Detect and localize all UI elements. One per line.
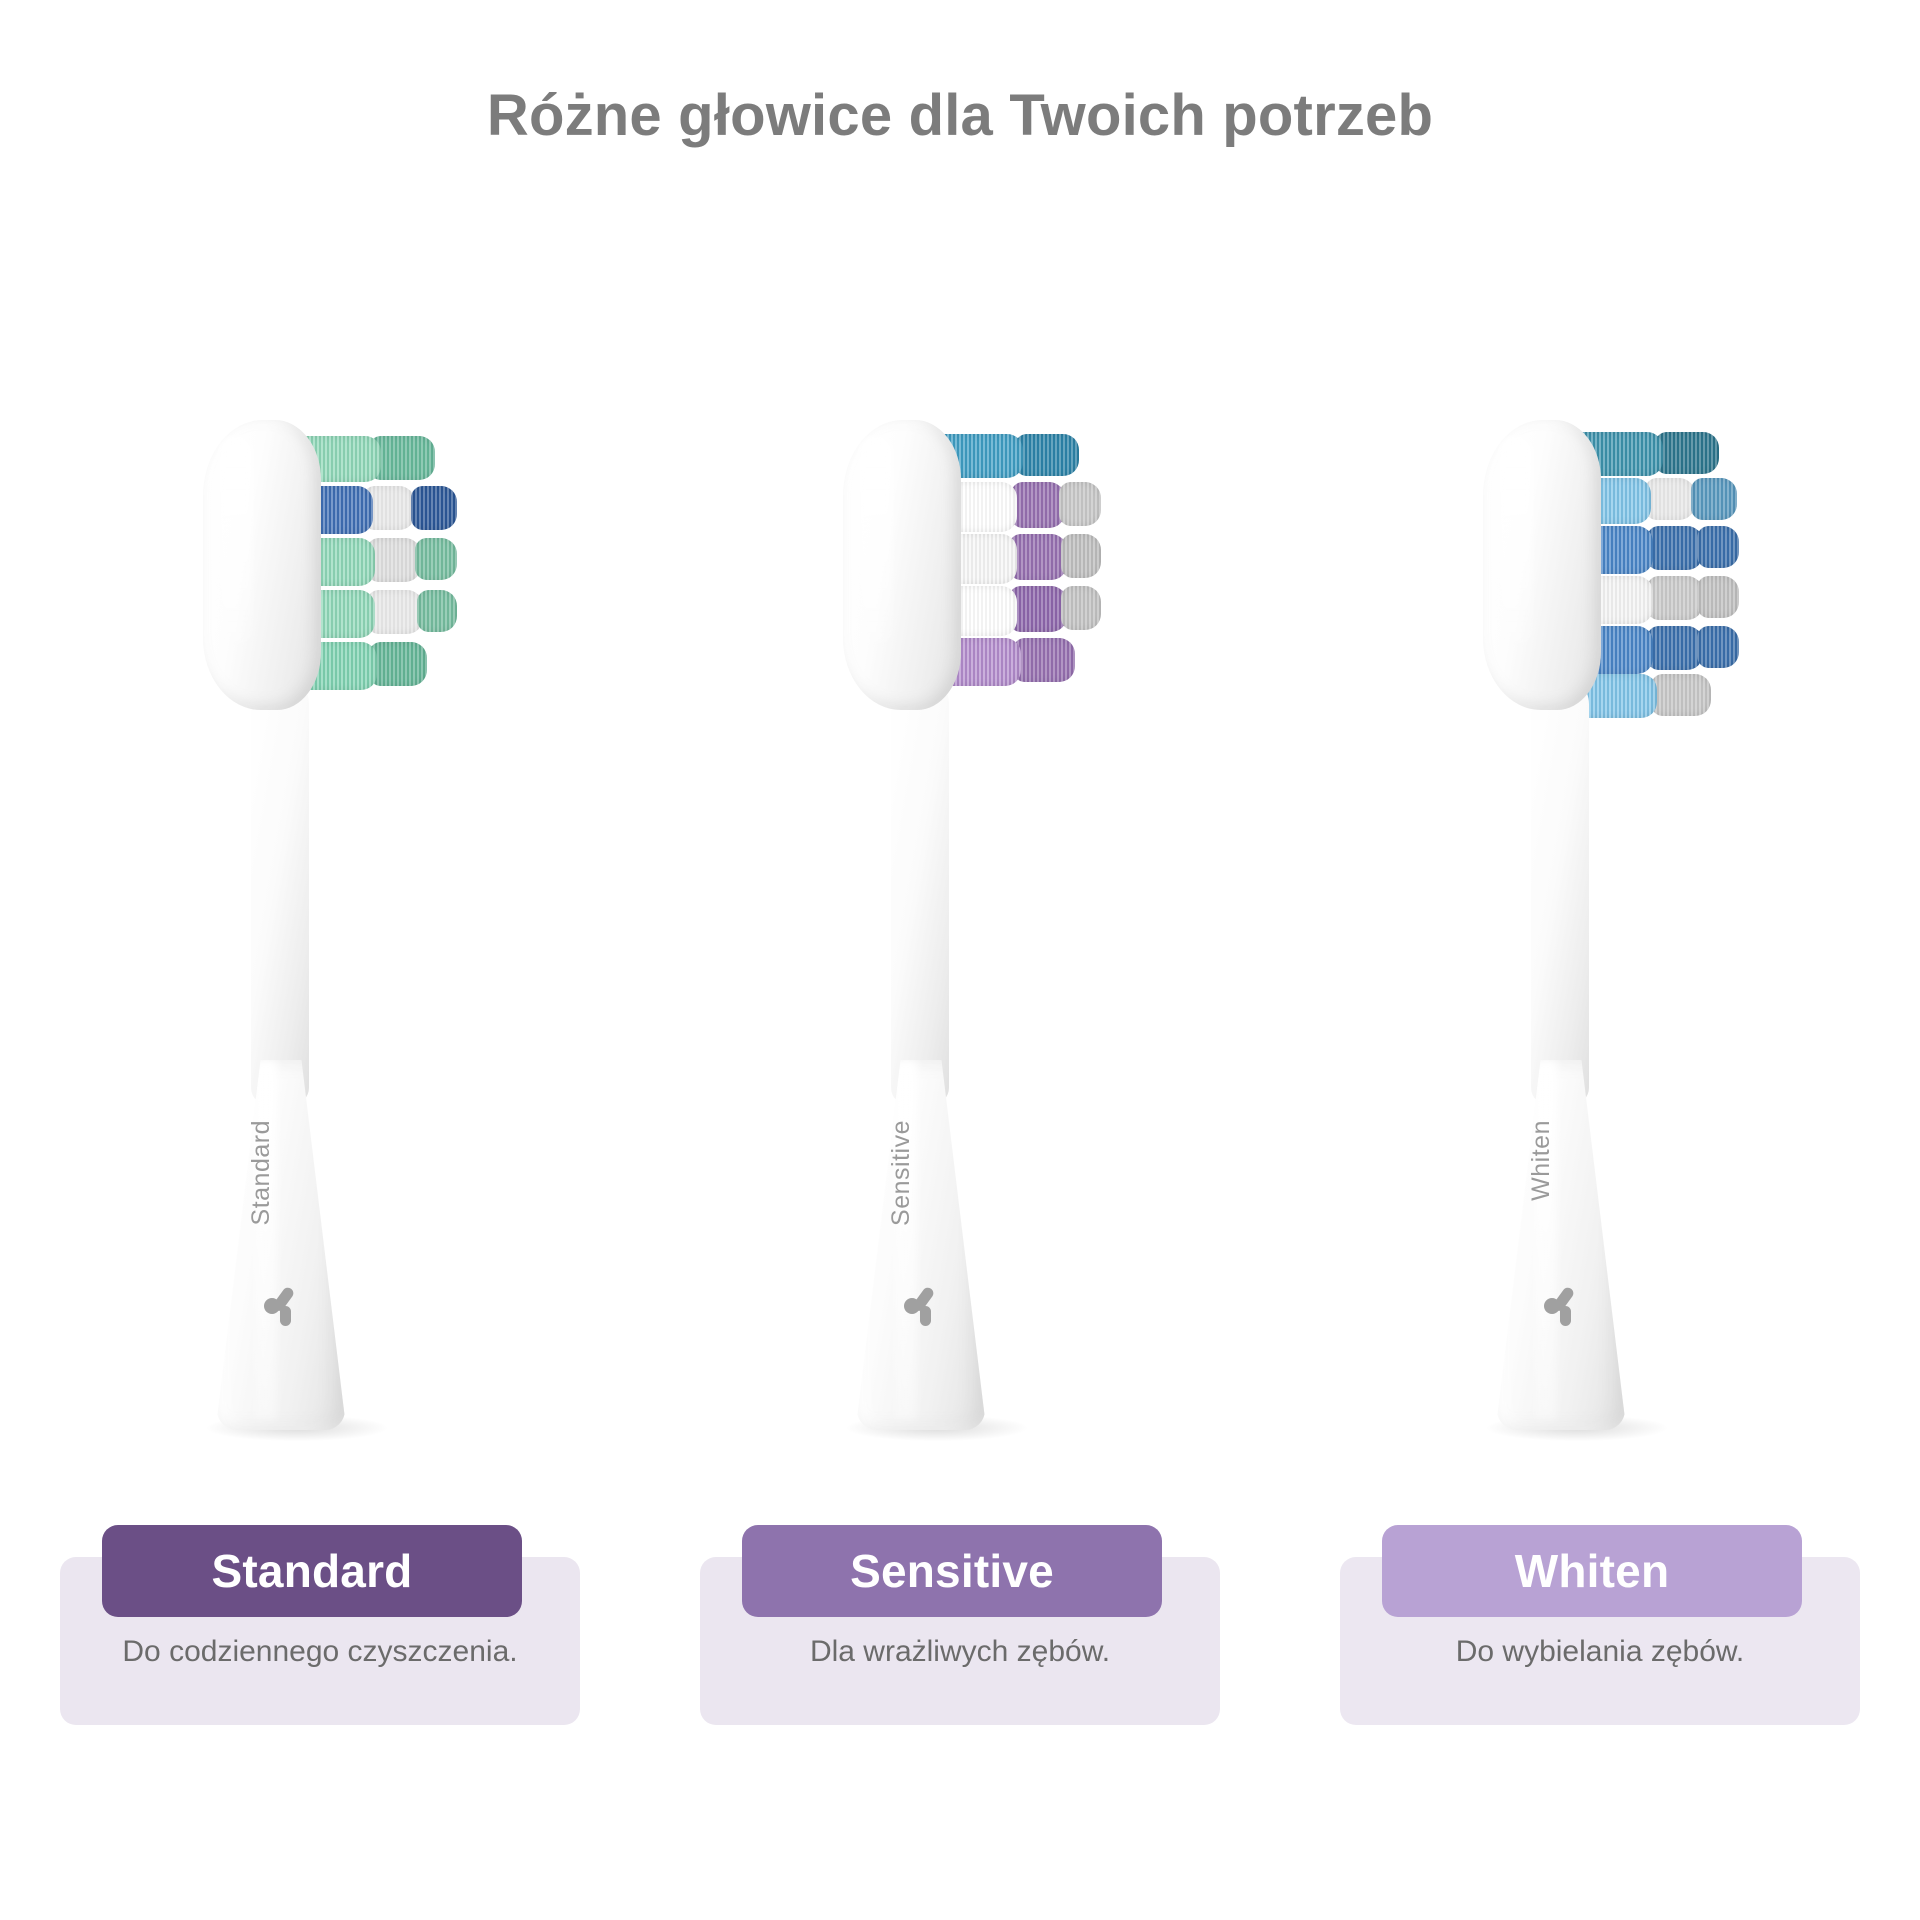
bristle-tuft [417,590,457,632]
bristle-tuft [1697,626,1739,668]
brand-logo-icon [901,1282,945,1328]
feature-card-whiten[interactable]: Whiten Do wybielania zębów. [1340,1525,1860,1725]
card-description-whiten: Do wybielania zębów. [1340,1635,1860,1669]
brush-head-whiten: Whiten [1435,420,1765,1450]
status-badge-standard: Standard [102,1525,522,1617]
brush-head-standard: Standard [155,420,485,1450]
status-badge-sensitive: Sensitive [742,1525,1162,1617]
brush-neck [891,675,949,1105]
bristle-tuft [1697,526,1739,568]
brand-logo-icon [1541,1282,1585,1328]
bristle-tuft [369,642,427,686]
brush-neck [251,675,309,1105]
bristle-tuft [1697,576,1739,618]
handle-label-standard: Standard [247,1120,276,1225]
handle-label-sensitive: Sensitive [887,1120,916,1226]
bristle-tuft [1061,586,1101,630]
feature-card-row: Standard Do codziennego czyszczenia. Sen… [0,1525,1920,1795]
bristle-tuft [1009,586,1067,632]
bristle-tuft [1647,626,1703,670]
bristle-tuft [1691,478,1737,520]
brush-head-shell [843,420,961,710]
bristle-tuft [1059,482,1101,526]
brush-head-row: Standard Sensitive [0,420,1920,1450]
bristle-tuft [367,590,423,634]
infographic-page: Różne głowice dla Twoich potrzeb Standar… [0,0,1920,1920]
brush-handle [857,1060,985,1430]
bristle-tuft [1647,526,1703,570]
handle-label-whiten: Whiten [1527,1120,1556,1201]
brush-handle [217,1060,345,1430]
bristle-tuft [1061,534,1101,578]
page-title: Różne głowice dla Twoich potrzeb [0,82,1920,149]
bristle-tuft [1009,534,1067,580]
feature-card-sensitive[interactable]: Sensitive Dla wrażliwych zębów. [700,1525,1220,1725]
bristle-tuft [1651,674,1711,716]
brush-head-shell [203,420,321,710]
feature-card-standard[interactable]: Standard Do codziennego czyszczenia. [60,1525,580,1725]
status-badge-whiten: Whiten [1382,1525,1802,1617]
bristle-tuft [1647,576,1703,620]
card-description-standard: Do codziennego czyszczenia. [60,1635,580,1669]
brand-logo-icon [261,1282,305,1328]
bristle-tuft [1013,638,1075,682]
bristle-tuft [1015,434,1079,476]
brush-head-sensitive: Sensitive [795,420,1125,1450]
bristle-tuft [411,486,457,530]
bristle-tuft [1011,482,1065,528]
bristle-tuft [1645,478,1695,520]
brush-head-shell [1483,420,1601,710]
bristle-tuft [367,538,421,582]
bristle-tuft [415,538,457,580]
card-description-sensitive: Dla wrażliwych zębów. [700,1635,1220,1669]
bristle-tuft [1655,432,1719,474]
brush-neck [1531,675,1589,1105]
brush-handle [1497,1060,1625,1430]
